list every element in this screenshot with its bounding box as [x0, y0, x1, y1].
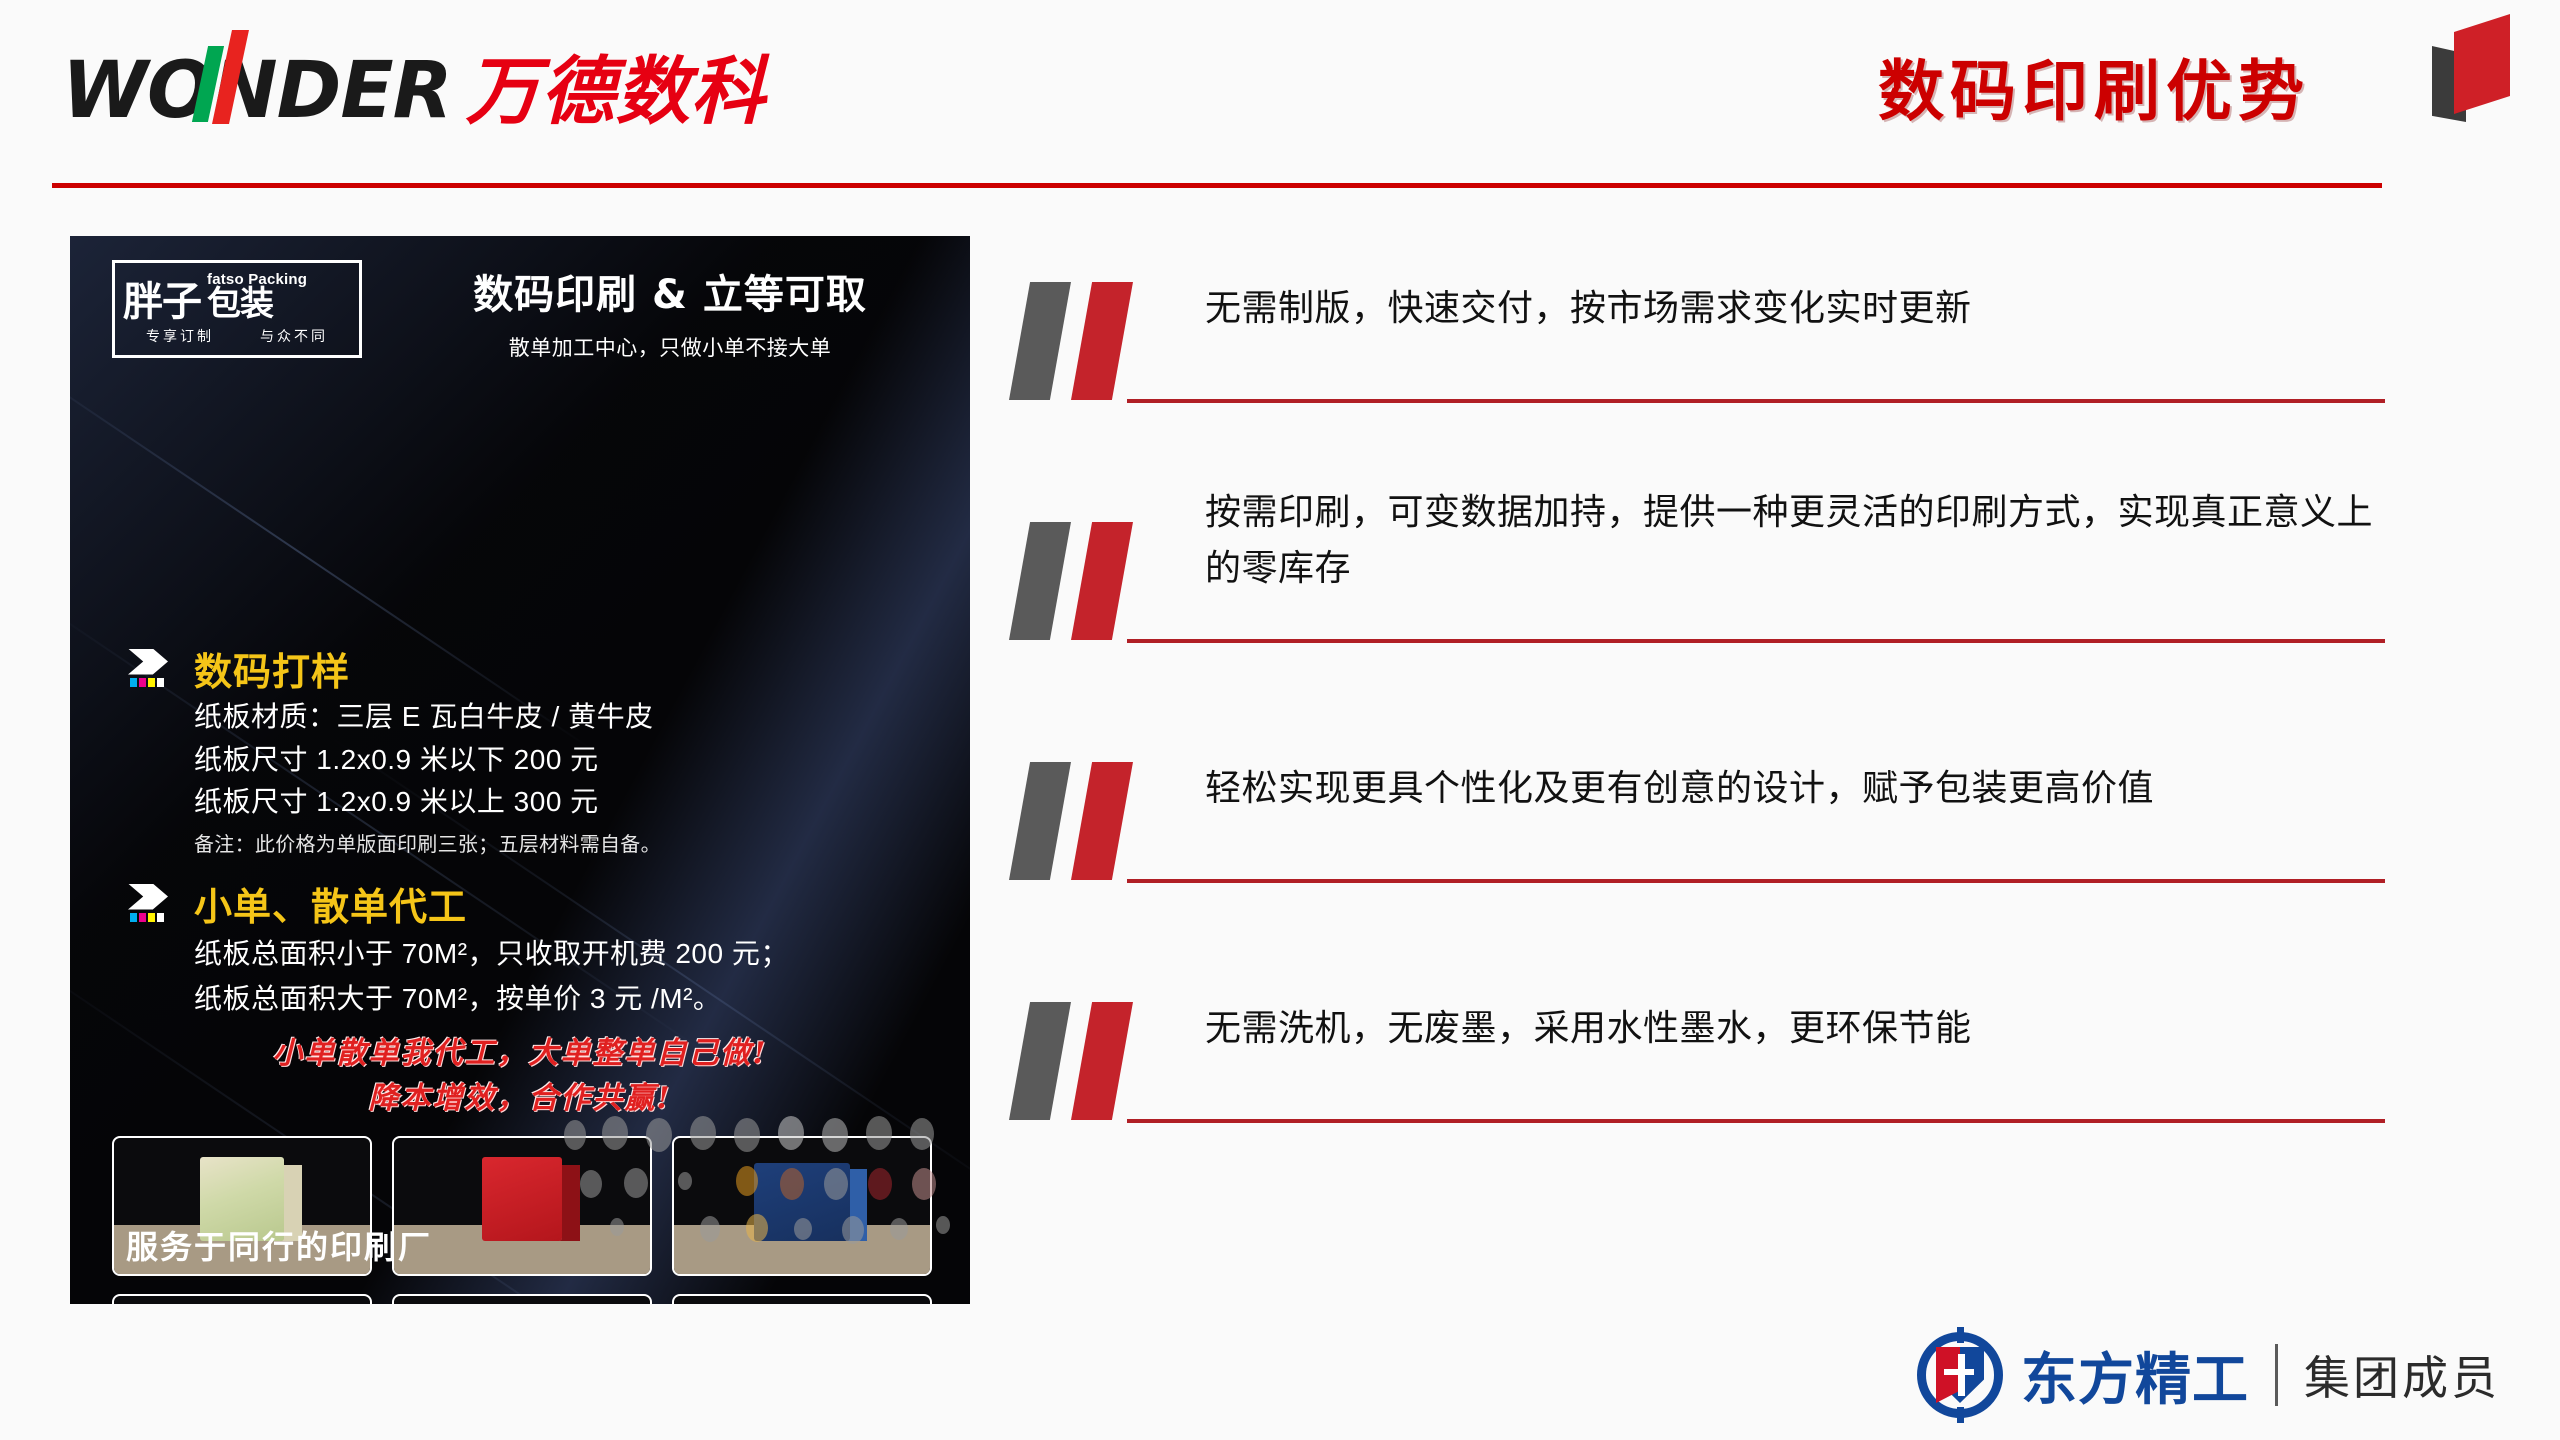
advantage-item-underline	[1127, 1119, 2385, 1123]
poster-footer-text: 服务于同行的印刷厂	[126, 1222, 432, 1268]
wonder-wordmark-part-b: DER	[277, 52, 452, 130]
footer-brand-name: 东方精工	[2021, 1335, 2249, 1416]
chevron-marker-icon	[1005, 762, 1185, 880]
slide-root: WONDER 万德数科 数码印刷优势 胖子 fatso Packing 包装	[0, 0, 2560, 1440]
folded-page-icon	[2426, 8, 2522, 126]
poster-section-line: 纸板尺寸 1.2x0.9 米以上 300 元	[194, 781, 926, 824]
page-title: 数码印刷优势	[1878, 52, 2310, 131]
poster-headline: 数码印刷 & 立等可取	[400, 262, 940, 320]
poster-headline-block: 数码印刷 & 立等可取 散单加工中心，只做小单不接大单	[400, 262, 940, 362]
chevron-marker-icon	[1005, 1002, 1185, 1120]
poster-dot-pattern	[550, 1094, 970, 1304]
advantage-item-underline	[1127, 639, 2385, 643]
poster-section-note: 备注：此价格为单版面印刷三张；五层材料需自备。	[194, 828, 926, 857]
advantage-item-underline	[1127, 879, 2385, 883]
poster-slogan-line-1: 小单散单我代工，大单整单自己做!	[70, 1031, 970, 1076]
footer-member-label: 集团成员	[2304, 1342, 2500, 1408]
advantage-list: 无需制版，快速交付，按市场需求变化实时更新 按需印刷，可变数据加持，提供一种更灵…	[1005, 236, 2465, 1196]
advantage-item-text: 轻松实现更具个性化及更有创意的设计，赋予包装更高价值	[1205, 760, 2385, 816]
folded-page-icon-front	[2454, 14, 2510, 114]
kraft-handle-box-photo	[112, 1294, 372, 1304]
poster-section-digital-proofing: 数码打样 纸板材质：三层 E 瓦白牛皮 / 黄牛皮 纸板尺寸 1.2x0.9 米…	[126, 641, 926, 857]
poster-section-line: 纸板尺寸 1.2x0.9 米以下 200 元	[194, 739, 926, 782]
poster-image: 胖子 fatso Packing 包装 专享订制 与众不同 数码印刷 & 立等可…	[70, 236, 970, 1304]
footer-divider	[2275, 1344, 2278, 1406]
advantage-item-1: 无需制版，快速交付，按市场需求变化实时更新	[1005, 236, 2465, 476]
dongfang-jingong-logo: 东方精工	[1917, 1332, 2249, 1418]
wonder-wordmark-part-n: N	[212, 52, 276, 130]
fatso-logo-sub: 包装	[207, 287, 307, 321]
slide-header: WONDER 万德数科 数码印刷优势	[0, 0, 2560, 195]
advantage-item-underline	[1127, 399, 2385, 403]
poster-section-small-batch-oem: 小单、散单代工 纸板总面积小于 70M²，只收取开机费 200 元； 纸板总面积…	[126, 876, 926, 1020]
arrow-cmyk-icon	[126, 882, 180, 926]
fatso-logo-tag-right: 与众不同	[260, 326, 328, 346]
poster-section-title-row: 数码打样	[126, 641, 926, 696]
advantage-item-text: 按需印刷，可变数据加持，提供一种更灵活的印刷方式，实现真正意义上的零库存	[1205, 484, 2385, 596]
poster-section-title: 数码打样	[194, 641, 350, 696]
poster-header: 胖子 fatso Packing 包装 专享订制 与众不同 数码印刷 & 立等可…	[70, 236, 970, 386]
advantage-item-3: 轻松实现更具个性化及更有创意的设计，赋予包装更高价值	[1005, 716, 2465, 956]
poster-section-line: 纸板材质：三层 E 瓦白牛皮 / 黄牛皮	[194, 696, 926, 739]
chevron-marker-icon	[1005, 282, 1185, 400]
fatso-logo-tag-left: 专享订制	[146, 326, 214, 346]
wonder-brand-chinese: 万德数科	[466, 55, 766, 129]
wonder-wordmark: WONDER	[62, 52, 452, 130]
advantage-item-text: 无需洗机，无废墨，采用水性墨水，更环保节能	[1205, 1000, 2385, 1056]
poster-section-title: 小单、散单代工	[194, 876, 467, 931]
chevron-marker-icon	[1005, 522, 1185, 640]
fatso-logo-main: 胖子	[123, 283, 201, 321]
dongfang-emblem-icon	[1917, 1332, 2003, 1418]
poster-section-line: 纸板总面积大于 70M²，按单价 3 元 /M²。	[194, 978, 926, 1021]
fatso-packing-logo: 胖子 fatso Packing 包装 专享订制 与众不同	[112, 260, 362, 358]
wonder-wordmark-part-a: WO	[62, 52, 212, 130]
advantage-item-text: 无需制版，快速交付，按市场需求变化实时更新	[1205, 280, 2385, 336]
poster-subheadline: 散单加工中心，只做小单不接大单	[400, 332, 940, 362]
header-divider	[52, 183, 2382, 188]
poster-section-title-row: 小单、散单代工	[126, 876, 926, 931]
wonder-brand-logo: WONDER 万德数科	[62, 52, 766, 130]
slide-footer: 东方精工 集团成员	[1917, 1332, 2500, 1418]
advantage-item-2: 按需印刷，可变数据加持，提供一种更灵活的印刷方式，实现真正意义上的零库存	[1005, 476, 2465, 716]
poster-section-line: 纸板总面积小于 70M²，只收取开机费 200 元；	[194, 933, 926, 976]
arrow-cmyk-icon	[126, 647, 180, 691]
advantage-item-4: 无需洗机，无废墨，采用水性墨水，更环保节能	[1005, 956, 2465, 1196]
